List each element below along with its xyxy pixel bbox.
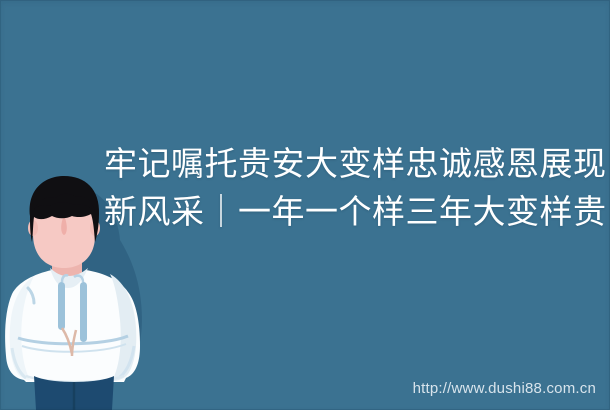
title-line-2: 新风采｜一年一个样三年大变样贵	[104, 188, 598, 236]
article-thumbnail-banner: 牢记嘱托贵安大变样忠诚感恩展现 新风采｜一年一个样三年大变样贵 http://w…	[0, 0, 610, 410]
watermark-url: http://www.dushi88.com.cn	[413, 380, 596, 397]
title-block: 牢记嘱托贵安大变样忠诚感恩展现 新风采｜一年一个样三年大变样贵	[104, 140, 598, 236]
title-line-1: 牢记嘱托贵安大变样忠诚感恩展现	[104, 140, 598, 188]
drawstring-right	[80, 282, 87, 342]
drawstring-left	[58, 282, 65, 330]
